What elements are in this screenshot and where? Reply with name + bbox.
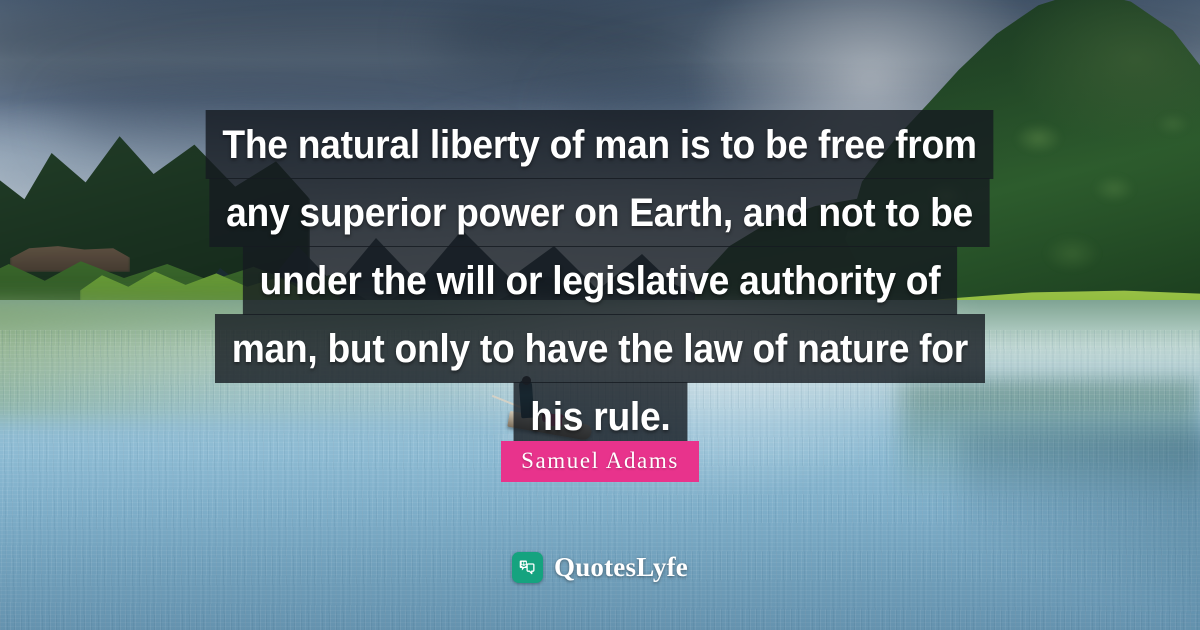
- quote-line: any superior power on Earth, and not to …: [210, 178, 990, 247]
- author-badge[interactable]: Samuel Adams: [501, 441, 699, 482]
- quote-line: under the will or legislative authority …: [243, 246, 957, 315]
- quote-bubble-icon: [512, 552, 543, 583]
- quote-line: man, but only to have the law of nature …: [215, 314, 985, 383]
- quote-card: The natural liberty of man is to be free…: [0, 0, 1200, 630]
- quote-text-block: The natural liberty of man is to be free…: [0, 110, 1200, 451]
- quote-line: The natural liberty of man is to be free…: [206, 110, 994, 179]
- brand-name: QuotesLyfe: [554, 552, 688, 583]
- brand-logo[interactable]: QuotesLyfe: [0, 552, 1200, 583]
- author-badge-wrapper: Samuel Adams: [0, 441, 1200, 482]
